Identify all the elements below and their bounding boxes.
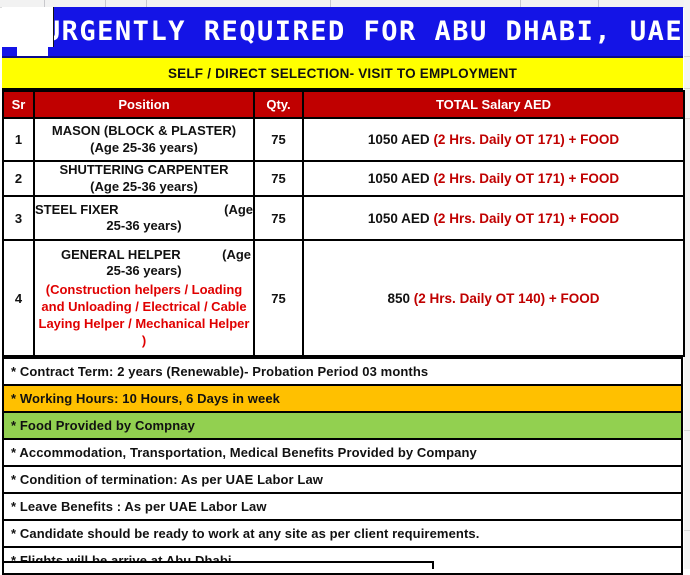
poster-subtitle-bar: SELF / DIRECT SELECTION- VISIT TO EMPLOY… xyxy=(2,58,683,90)
row-qty: 75 xyxy=(254,161,303,196)
note-item: * Candidate should be ready to work at a… xyxy=(3,520,682,547)
row-position: STEEL FIXER (Age 25-36 years) xyxy=(34,196,254,240)
row-position: GENERAL HELPER (Age 25-36 years) (Constr… xyxy=(34,240,254,356)
job-advertisement-poster: URGENTLY REQUIRED FOR ABU DHABI, UAE SEL… xyxy=(2,7,683,575)
note-row: * Working Hours: 10 Hours, 6 Days in wee… xyxy=(3,385,682,412)
grid-divider xyxy=(598,0,599,7)
position-title: STEEL FIXER xyxy=(35,202,119,219)
column-header-qty: Qty. xyxy=(254,91,303,118)
row-sr: 4 xyxy=(3,240,34,356)
grid-row-line xyxy=(684,88,690,89)
column-header-salary: TOTAL Salary AED xyxy=(303,91,684,118)
white-paper-patch-tab xyxy=(17,47,48,58)
note-item: * Contract Term: 2 years (Renewable)- Pr… xyxy=(3,358,682,385)
position-title: MASON (BLOCK & PLASTER) xyxy=(35,123,253,140)
row-position: SHUTTERING CARPENTER (Age 25-36 years) xyxy=(34,161,254,196)
conditions-table: * Contract Term: 2 years (Renewable)- Pr… xyxy=(2,357,683,575)
position-title: GENERAL HELPER xyxy=(61,247,181,264)
position-age: 25-36 years) xyxy=(35,263,253,280)
row-salary: 850 (2 Hrs. Daily OT 140) + FOOD xyxy=(303,240,684,356)
grid-row-line xyxy=(684,56,690,57)
spreadsheet-canvas: URGENTLY REQUIRED FOR ABU DHABI, UAE SEL… xyxy=(0,0,690,569)
row-qty: 75 xyxy=(254,240,303,356)
note-item-working-hours: * Working Hours: 10 Hours, 6 Days in wee… xyxy=(3,385,682,412)
note-row: * Accommodation, Transportation, Medical… xyxy=(3,439,682,466)
grid-divider xyxy=(146,0,147,7)
salary-note: (2 Hrs. Daily OT 171) + FOOD xyxy=(433,211,619,226)
row-salary: 1050 AED (2 Hrs. Daily OT 171) + FOOD xyxy=(303,118,684,161)
grid-row-line xyxy=(684,430,690,431)
table-row: 4 GENERAL HELPER (Age 25-36 years) (Cons… xyxy=(3,240,684,356)
column-header-position: Position xyxy=(34,91,254,118)
position-title: SHUTTERING CARPENTER xyxy=(35,162,253,179)
grid-divider xyxy=(330,0,331,7)
grid-divider xyxy=(44,0,45,7)
grid-divider xyxy=(520,0,521,7)
note-item: * Leave Benefits : As per UAE Labor Law xyxy=(3,493,682,520)
poster-subtitle-text: SELF / DIRECT SELECTION- VISIT TO EMPLOY… xyxy=(168,66,517,81)
salary-note: (2 Hrs. Daily OT 140) + FOOD xyxy=(414,291,600,306)
row-qty: 75 xyxy=(254,118,303,161)
note-row: * Condition of termination: As per UAE L… xyxy=(3,466,682,493)
salary-base: 1050 AED xyxy=(368,132,430,147)
row-sr: 1 xyxy=(3,118,34,161)
white-paper-patch xyxy=(2,7,54,47)
position-age: 25-36 years) xyxy=(35,218,253,235)
note-row: * Candidate should be ready to work at a… xyxy=(3,520,682,547)
position-detail: (Construction helpers / Loading and Unlo… xyxy=(35,282,253,350)
table-row: 2 SHUTTERING CARPENTER (Age 25-36 years)… xyxy=(3,161,684,196)
row-salary: 1050 AED (2 Hrs. Daily OT 171) + FOOD xyxy=(303,161,684,196)
row-sr: 3 xyxy=(3,196,34,240)
position-age: (Age 25-36 years) xyxy=(35,140,253,157)
table-row: 3 STEEL FIXER (Age 25-36 years) 75 1050 … xyxy=(3,196,684,240)
salary-base: 850 xyxy=(388,291,411,306)
note-row: * Food Provided by Compnay xyxy=(3,412,682,439)
note-row: * Contract Term: 2 years (Renewable)- Pr… xyxy=(3,358,682,385)
column-header-sr: Sr xyxy=(3,91,34,118)
note-item: * Condition of termination: As per UAE L… xyxy=(3,466,682,493)
note-item-food: * Food Provided by Compnay xyxy=(3,412,682,439)
table-row: 1 MASON (BLOCK & PLASTER) (Age 25-36 yea… xyxy=(3,118,684,161)
position-age: (Age 25-36 years) xyxy=(35,179,253,196)
position-age-left: (Age xyxy=(222,247,251,264)
poster-banner: URGENTLY REQUIRED FOR ABU DHABI, UAE xyxy=(2,7,683,58)
jobs-table-header-row: Sr Position Qty. TOTAL Salary AED xyxy=(3,91,684,118)
row-sr: 2 xyxy=(3,161,34,196)
salary-note: (2 Hrs. Daily OT 171) + FOOD xyxy=(433,132,619,147)
grid-row-line xyxy=(684,530,690,531)
jobs-table: Sr Position Qty. TOTAL Salary AED 1 MASO… xyxy=(2,90,685,357)
salary-note: (2 Hrs. Daily OT 171) + FOOD xyxy=(433,171,619,186)
row-position: MASON (BLOCK & PLASTER) (Age 25-36 years… xyxy=(34,118,254,161)
salary-base: 1050 AED xyxy=(368,171,430,186)
note-row: * Leave Benefits : As per UAE Labor Law xyxy=(3,493,682,520)
row-salary: 1050 AED (2 Hrs. Daily OT 171) + FOOD xyxy=(303,196,684,240)
salary-base: 1050 AED xyxy=(368,211,430,226)
row-qty: 75 xyxy=(254,196,303,240)
grid-divider xyxy=(105,0,106,7)
poster-title: URGENTLY REQUIRED FOR ABU DHABI, UAE xyxy=(2,16,683,47)
partial-next-row xyxy=(2,561,434,569)
note-item: * Accommodation, Transportation, Medical… xyxy=(3,439,682,466)
position-age-left: (Age xyxy=(224,202,253,219)
